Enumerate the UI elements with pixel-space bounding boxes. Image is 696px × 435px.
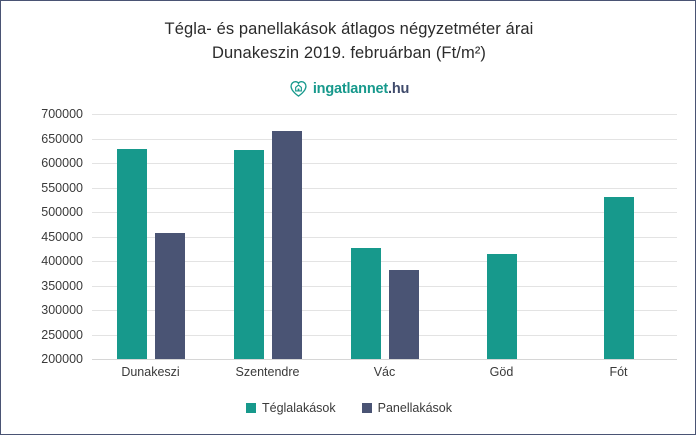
legend-item[interactable]: Téglalakások xyxy=(246,401,336,415)
x-axis-tick-label: Vác xyxy=(326,365,443,379)
y-axis-tick-label: 450000 xyxy=(41,230,83,244)
bar-tegla[interactable] xyxy=(487,254,517,359)
bar-group xyxy=(443,114,560,359)
y-axis-tick-label: 250000 xyxy=(41,328,83,342)
chart-title: Tégla- és panellakások átlagos négyzetmé… xyxy=(1,17,696,65)
bar-group xyxy=(92,114,209,359)
bar-panel[interactable] xyxy=(272,131,302,359)
y-axis-tick-label: 650000 xyxy=(41,132,83,146)
legend-label: Panellakások xyxy=(378,401,452,415)
y-axis-tick-label: 350000 xyxy=(41,279,83,293)
bar-panel[interactable] xyxy=(155,233,185,359)
y-axis-tick-label: 200000 xyxy=(41,352,83,366)
x-axis: DunakesziSzentendreVácGödFót xyxy=(92,365,677,379)
bar-tegla[interactable] xyxy=(351,248,381,359)
y-axis: 7000006500006000005500005000004500004000… xyxy=(9,114,83,359)
y-axis-tick-label: 500000 xyxy=(41,205,83,219)
y-axis-tick-label: 550000 xyxy=(41,181,83,195)
bar-tegla[interactable] xyxy=(234,150,264,359)
y-axis-tick-label: 700000 xyxy=(41,107,83,121)
bar-group xyxy=(209,114,326,359)
chart-container: Tégla- és panellakások átlagos négyzetmé… xyxy=(0,0,696,435)
y-axis-tick-label: 400000 xyxy=(41,254,83,268)
bar-series-layer xyxy=(92,114,677,359)
bar-tegla[interactable] xyxy=(604,197,634,359)
brand-watermark: ingatlannet.hu xyxy=(1,79,696,98)
chart-title-line-1: Tégla- és panellakások átlagos négyzetmé… xyxy=(1,17,696,41)
bar-group xyxy=(326,114,443,359)
chart-title-line-2: Dunakeszin 2019. februárban (Ft/m²) xyxy=(1,41,696,65)
bar-tegla[interactable] xyxy=(117,149,147,359)
x-axis-tick-label: Göd xyxy=(443,365,560,379)
gridline xyxy=(92,359,677,360)
bar-panel[interactable] xyxy=(389,270,419,359)
chart-legend: TéglalakásokPanellakások xyxy=(1,401,696,415)
y-axis-tick-label: 600000 xyxy=(41,156,83,170)
brand-wordmark: ingatlannet.hu xyxy=(313,81,409,97)
x-axis-tick-label: Szentendre xyxy=(209,365,326,379)
ingatlannet-logo-icon xyxy=(289,79,308,98)
brand-name-text: ingatlannet xyxy=(313,81,388,97)
legend-label: Téglalakások xyxy=(262,401,336,415)
x-axis-tick-label: Fót xyxy=(560,365,677,379)
x-axis-tick-label: Dunakeszi xyxy=(92,365,209,379)
brand-tld-text: .hu xyxy=(388,81,409,97)
legend-item[interactable]: Panellakások xyxy=(362,401,452,415)
legend-swatch-icon xyxy=(362,403,372,413)
legend-swatch-icon xyxy=(246,403,256,413)
bar-group xyxy=(560,114,677,359)
y-axis-tick-label: 300000 xyxy=(41,303,83,317)
